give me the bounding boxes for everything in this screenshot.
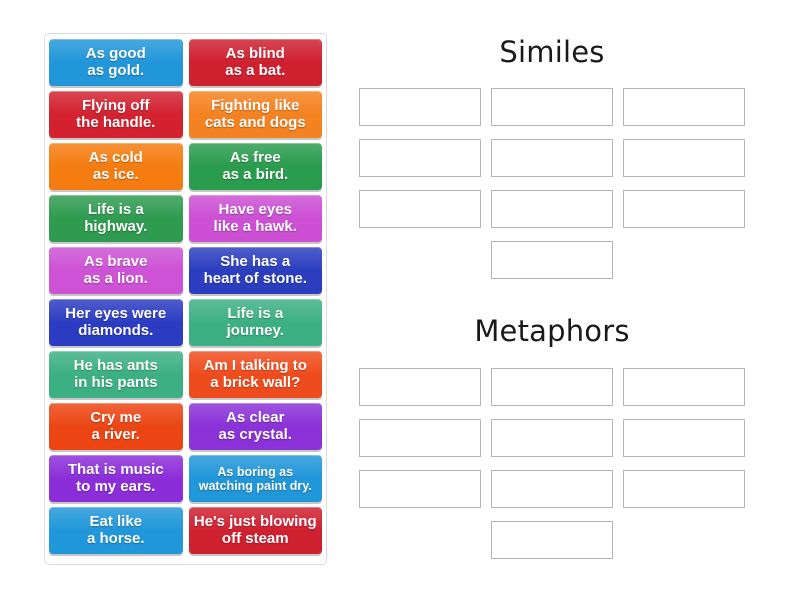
word-tile-label: As coldas ice. <box>89 150 143 184</box>
word-tile-label: Life is ahighway. <box>84 202 147 236</box>
answer-dropzone[interactable] <box>491 241 613 279</box>
group-title-metaphors: Metaphors <box>352 314 752 348</box>
word-tile[interactable]: Have eyeslike a hawk. <box>189 195 323 242</box>
answer-dropzone[interactable] <box>491 521 613 559</box>
answer-dropzone[interactable] <box>623 470 745 508</box>
word-tile[interactable]: Her eyes werediamonds. <box>49 299 183 346</box>
answer-dropzone[interactable] <box>491 368 613 406</box>
answer-dropzone[interactable] <box>491 139 613 177</box>
word-tile[interactable]: As braveas a lion. <box>49 247 183 294</box>
answer-dropzone[interactable] <box>491 470 613 508</box>
word-tile[interactable]: As freeas a bird. <box>189 143 323 190</box>
word-tile[interactable]: Flying offthe handle. <box>49 91 183 138</box>
word-tile[interactable]: Fighting likecats and dogs <box>189 91 323 138</box>
answer-dropzone[interactable] <box>491 419 613 457</box>
word-tile-label: As clearas crystal. <box>219 410 292 444</box>
answer-dropzone[interactable] <box>623 190 745 228</box>
word-tile-label: He's just blowingoff steam <box>194 514 317 548</box>
word-tile[interactable]: He has antsin his pants <box>49 351 183 398</box>
word-tile[interactable]: As clearas crystal. <box>189 403 323 450</box>
word-tile[interactable]: Life is ajourney. <box>189 299 323 346</box>
word-tile-label: As boring aswatching paint dry. <box>199 465 312 493</box>
word-tile[interactable]: As coldas ice. <box>49 143 183 190</box>
word-tile[interactable]: As blindas a bat. <box>189 39 323 86</box>
word-tile[interactable]: She has aheart of stone. <box>189 247 323 294</box>
answer-dropzone[interactable] <box>359 88 481 126</box>
answer-dropzone[interactable] <box>359 368 481 406</box>
word-tile[interactable]: As goodas gold. <box>49 39 183 86</box>
answer-dropzone[interactable] <box>491 88 613 126</box>
answer-dropzone[interactable] <box>623 88 745 126</box>
word-tile[interactable]: As boring aswatching paint dry. <box>189 455 323 502</box>
answer-dropzone[interactable] <box>359 139 481 177</box>
word-tile-label: That is musicto my ears. <box>68 462 164 496</box>
word-tile[interactable]: Am I talking toa brick wall? <box>189 351 323 398</box>
word-tile[interactable]: He's just blowingoff steam <box>189 507 323 554</box>
word-tile-label: As blindas a bat. <box>225 46 285 80</box>
answer-dropzone[interactable] <box>623 139 745 177</box>
word-tile-label: As goodas gold. <box>86 46 146 80</box>
word-tile-label: Life is ajourney. <box>227 306 284 340</box>
word-tile-label: Eat likea horse. <box>87 514 145 548</box>
word-tile-label: Her eyes werediamonds. <box>65 306 166 340</box>
word-tile-label: Fighting likecats and dogs <box>205 98 306 132</box>
draggable-tiles-panel: As goodas gold.As blindas a bat.Flying o… <box>44 33 327 565</box>
word-tile[interactable]: Cry mea river. <box>49 403 183 450</box>
answer-dropzone[interactable] <box>491 190 613 228</box>
word-tile-label: He has antsin his pants <box>74 358 158 392</box>
answer-dropzone[interactable] <box>623 419 745 457</box>
word-tile[interactable]: Eat likea horse. <box>49 507 183 554</box>
tile-grid: As goodas gold.As blindas a bat.Flying o… <box>49 39 322 559</box>
word-tile-label: She has aheart of stone. <box>204 254 307 288</box>
word-tile-label: Have eyeslike a hawk. <box>214 202 297 236</box>
answer-dropzone[interactable] <box>359 419 481 457</box>
dropzone-grid-metaphors <box>359 368 747 559</box>
dropzone-grid-similes <box>359 88 747 279</box>
word-tile-label: Cry mea river. <box>90 410 141 444</box>
group-sort-activity: As goodas gold.As blindas a bat.Flying o… <box>0 0 800 600</box>
word-tile-label: Flying offthe handle. <box>76 98 155 132</box>
word-tile-label: Am I talking toa brick wall? <box>204 358 307 392</box>
answer-dropzone[interactable] <box>359 190 481 228</box>
group-title-similes: Similes <box>352 35 752 69</box>
word-tile-label: As freeas a bird. <box>222 150 288 184</box>
word-tile[interactable]: Life is ahighway. <box>49 195 183 242</box>
answer-dropzone[interactable] <box>359 470 481 508</box>
word-tile-label: As braveas a lion. <box>84 254 148 288</box>
answer-dropzone[interactable] <box>623 368 745 406</box>
word-tile[interactable]: That is musicto my ears. <box>49 455 183 502</box>
